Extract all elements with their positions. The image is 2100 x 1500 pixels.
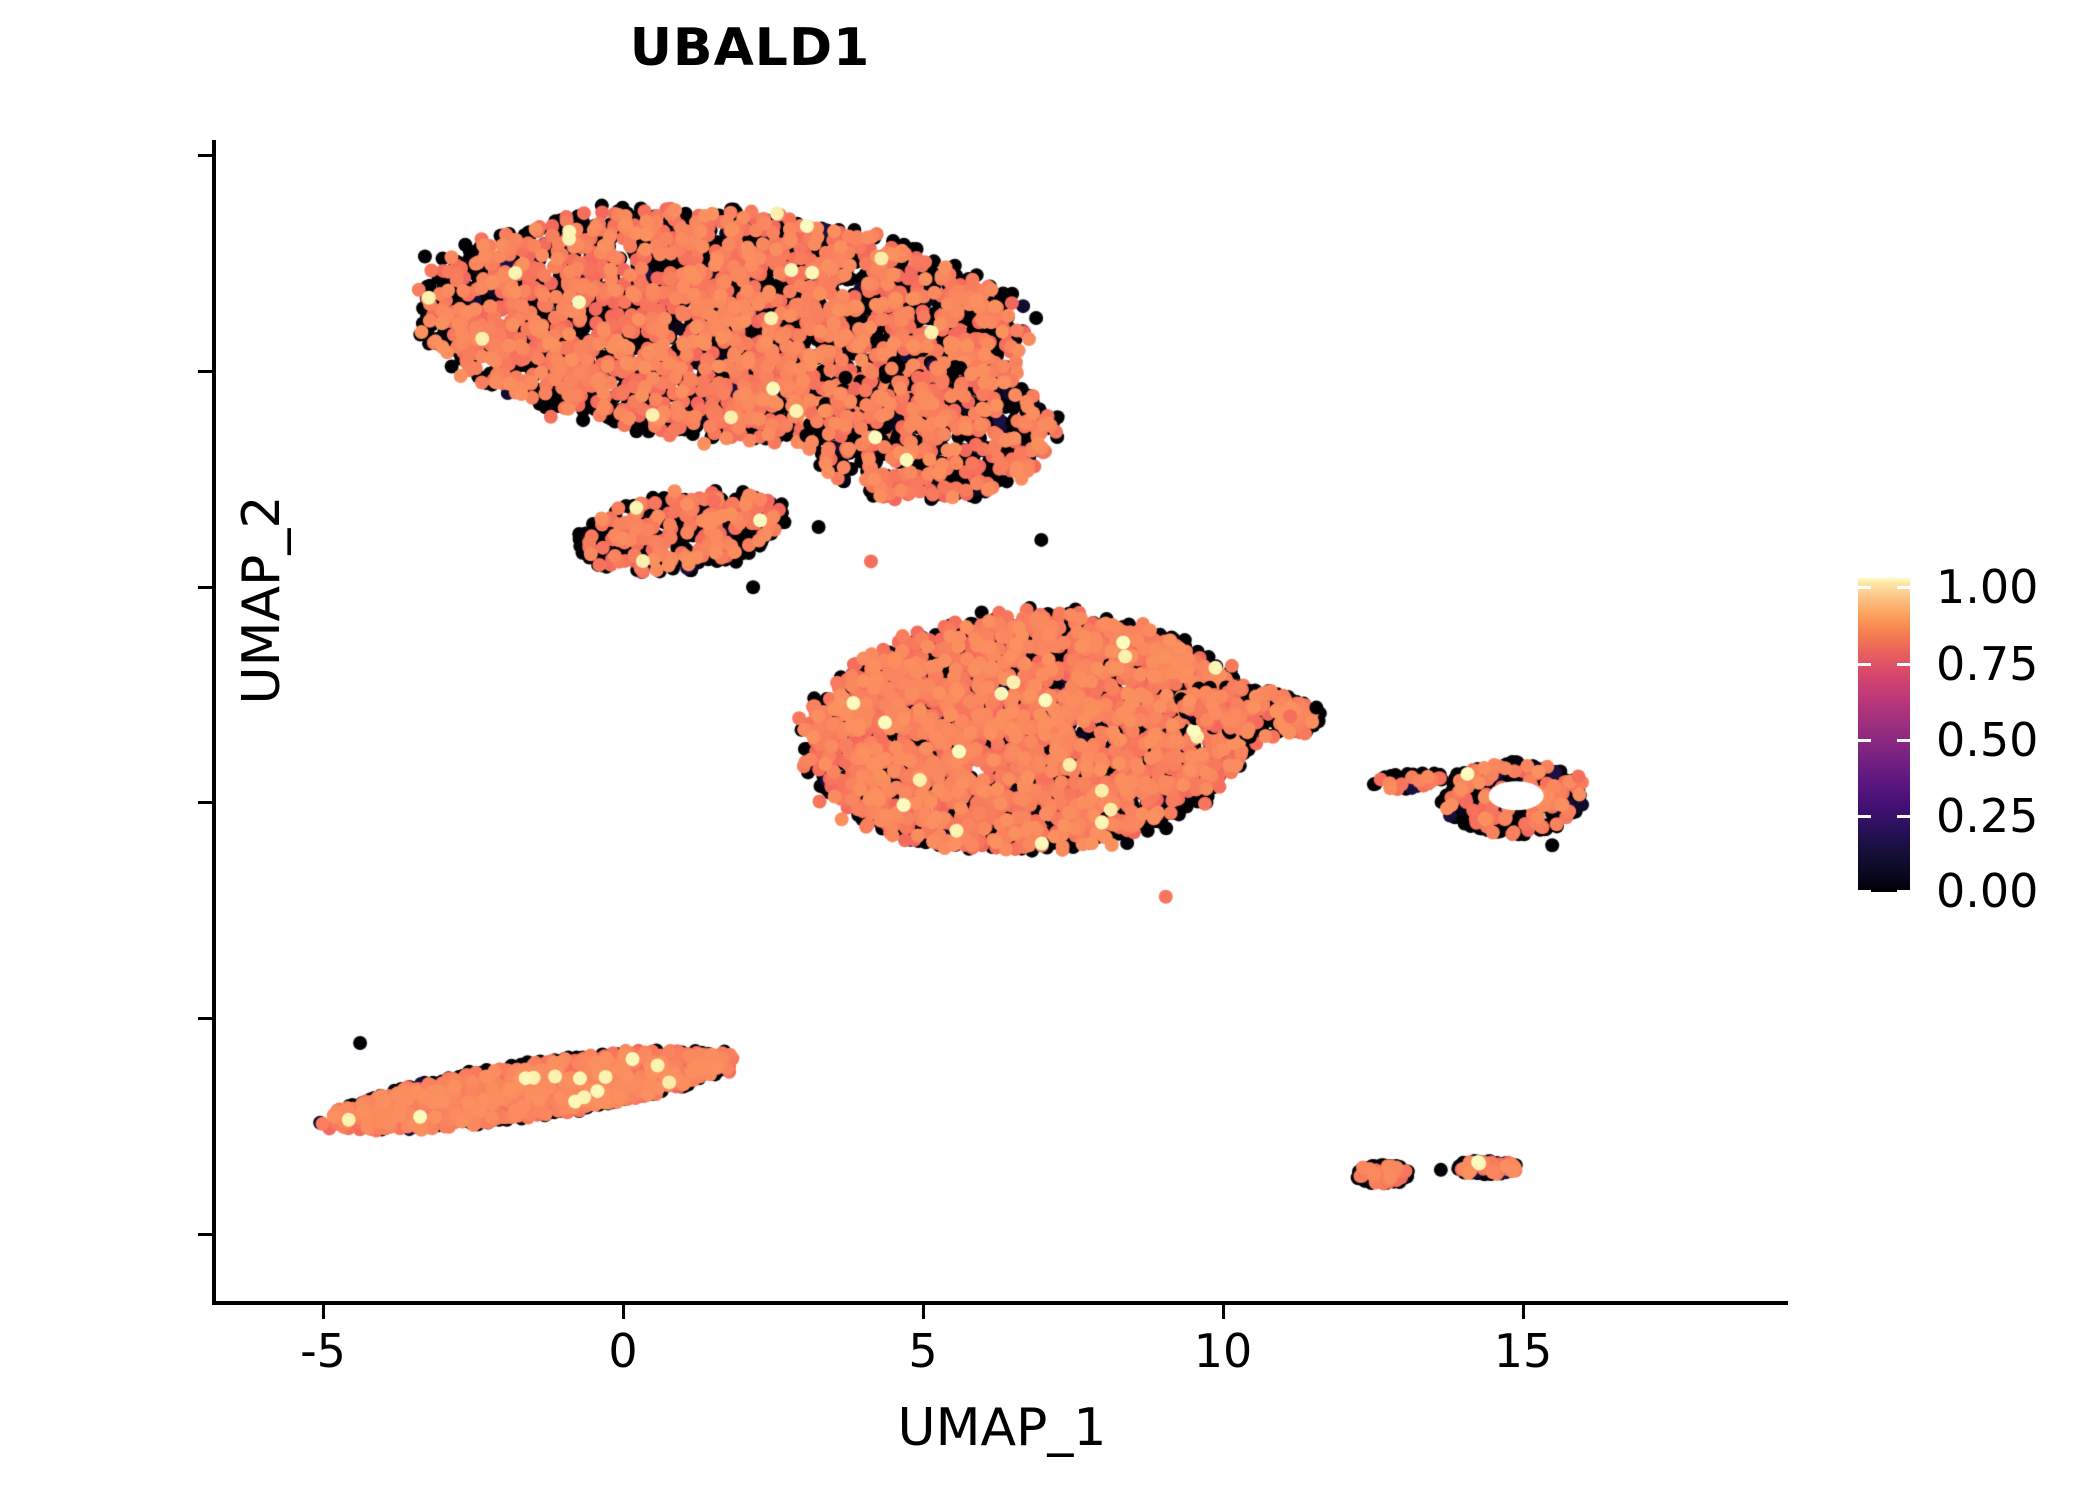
colorbar: 1.00 0.75 0.50 0.25 0.00 (1858, 578, 2098, 896)
colorbar-tick-mark (1897, 890, 1910, 893)
x-tick-mark (1222, 1305, 1225, 1319)
colorbar-tick-mark (1897, 815, 1910, 818)
colorbar-tick-mark (1858, 815, 1871, 818)
colorbar-tick-label: 1.00 (1936, 564, 2100, 610)
colorbar-tick-label: 0.25 (1936, 793, 2100, 839)
x-tick-label: 0 (543, 1328, 703, 1374)
colorbar-tick-mark (1897, 663, 1910, 666)
y-tick-mark (198, 1233, 212, 1236)
colorbar-tick-mark (1858, 663, 1871, 666)
x-axis-label: UMAP_1 (652, 1398, 1352, 1458)
x-tick-label: 10 (1143, 1328, 1303, 1374)
y-tick-mark (198, 370, 212, 373)
y-tick-mark (198, 154, 212, 157)
colorbar-tick-mark (1858, 890, 1871, 893)
colorbar-tick-mark (1858, 739, 1871, 742)
plot-axes: 20 15 10 5 0 -5 -5 0 5 10 15 UMAP_2 UMAP… (212, 140, 1788, 1305)
x-axis-spine (212, 1301, 1788, 1305)
y-tick-mark (198, 586, 212, 589)
y-tick-mark (198, 1017, 212, 1020)
colorbar-tick-label: 0.75 (1936, 641, 2100, 687)
colorbar-tick-mark (1858, 586, 1871, 589)
x-tick-mark (622, 1305, 625, 1319)
page-title: UBALD1 (0, 18, 1500, 78)
colorbar-tick-mark (1897, 739, 1910, 742)
x-tick-mark (922, 1305, 925, 1319)
x-tick-mark (322, 1305, 325, 1319)
x-tick-label: 5 (843, 1328, 1003, 1374)
figure-canvas: UBALD1 20 15 10 5 0 -5 -5 0 5 10 15 UMAP… (0, 0, 2100, 1500)
y-axis-label: UMAP_2 (232, 390, 292, 810)
x-tick-label: 15 (1443, 1328, 1603, 1374)
colorbar-gradient (1858, 578, 1910, 892)
colorbar-tick-mark (1897, 586, 1910, 589)
scatter-plot-points (216, 140, 1788, 1301)
colorbar-tick-label: 0.50 (1936, 717, 2100, 763)
x-tick-label: -5 (243, 1328, 403, 1374)
y-tick-mark (198, 801, 212, 804)
x-tick-mark (1522, 1305, 1525, 1319)
colorbar-tick-label: 0.00 (1936, 868, 2100, 914)
